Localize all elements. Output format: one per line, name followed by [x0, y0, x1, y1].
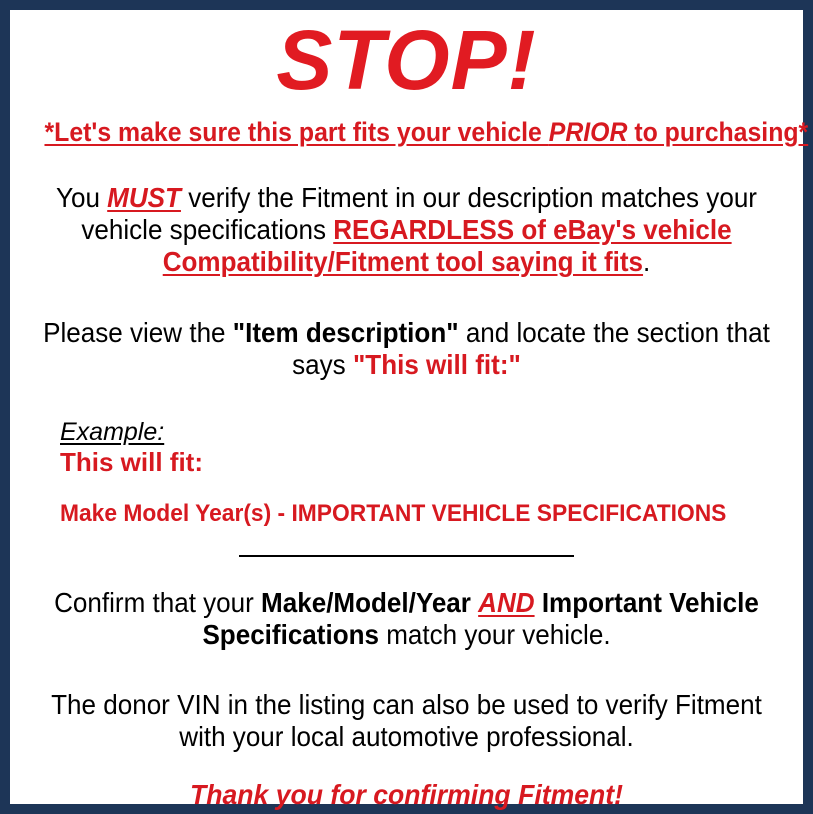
- sub-headline-lead: *Let's make sure this part fits your veh…: [44, 117, 548, 147]
- and-emphasis: AND: [478, 587, 534, 618]
- fitment-notice-card: STOP! *Let's make sure this part fits yo…: [0, 0, 813, 814]
- confirm-paragraph-seg2: match your vehicle.: [379, 619, 611, 650]
- example-this-will-fit: This will fit:: [60, 448, 800, 478]
- must-verify-paragraph: You MUST verify the Fitment in our descr…: [41, 182, 773, 279]
- notice-content: STOP! *Let's make sure this part fits yo…: [10, 10, 803, 804]
- sub-headline: *Let's make sure this part fits your veh…: [44, 117, 768, 148]
- donor-vin-paragraph: The donor VIN in the listing can also be…: [41, 689, 773, 753]
- please-paragraph-seg1: Please view the: [43, 317, 233, 348]
- make-model-year-emphasis: Make/Model/Year: [261, 587, 471, 618]
- confirm-paragraph-seg1: Confirm that your: [54, 587, 261, 618]
- example-label: Example:: [60, 417, 164, 447]
- stop-heading: STOP!: [13, 10, 800, 105]
- separator-rule-wrapper: [13, 555, 800, 557]
- example-label-row: Example:: [60, 417, 800, 447]
- confirm-paragraph: Confirm that your Make/Model/Year AND Im…: [41, 587, 773, 651]
- item-description-paragraph: Please view the "Item description" and l…: [41, 317, 773, 381]
- separator-rule: [239, 555, 574, 557]
- this-will-fit-quote: "This will fit:": [353, 349, 521, 380]
- item-description-label: "Item description": [233, 317, 459, 348]
- example-block: Example: This will fit: Make Model Year(…: [13, 417, 800, 527]
- closing-thanks: Thank you for confirming Fitment!: [33, 779, 781, 811]
- must-paragraph-seg3: .: [643, 246, 650, 277]
- must-emphasis: MUST: [107, 182, 181, 213]
- sub-headline-emphasis: PRIOR: [549, 117, 628, 147]
- must-paragraph-seg1: You: [56, 182, 107, 213]
- example-spec-line: Make Model Year(s) - IMPORTANT VEHICLE S…: [60, 500, 763, 528]
- sub-headline-tail: to purchasing*: [627, 117, 808, 147]
